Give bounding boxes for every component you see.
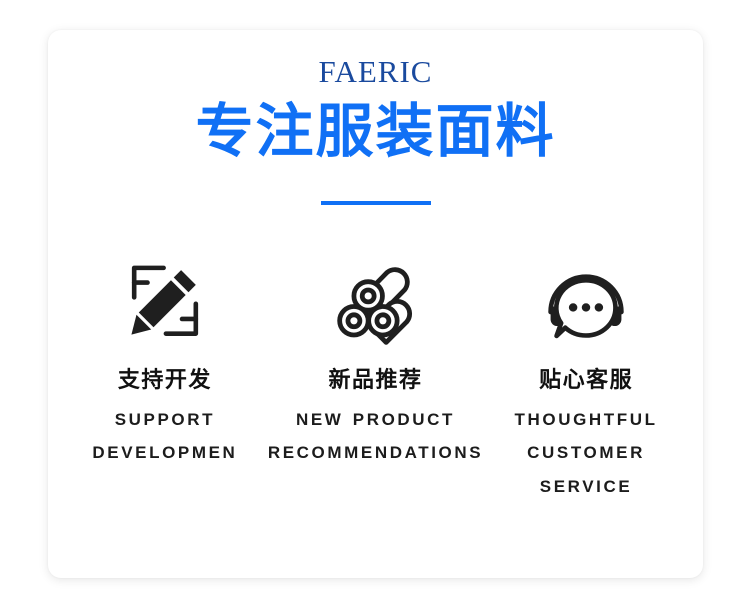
feature-title-cn: 支持开发 (74, 367, 256, 395)
promo-banner-card: FAERIC 专注服装面料 (48, 30, 703, 578)
feature-title-en: THOUGHTFUL CUSTOMER SERVICE (495, 403, 677, 502)
feature-title-en: NEW PRODUCT RECOMMENDATIONS (268, 403, 483, 469)
page-root: { "brand": { "wordmark": "FAERIC", "word… (0, 0, 750, 615)
banner-header: FAERIC 专注服装面料 (48, 30, 703, 205)
pencil-ruler-icon (74, 249, 256, 353)
brand-wordmark: FAERIC (48, 56, 703, 87)
feature-title-cn: 新品推荐 (268, 367, 483, 395)
feature-item-new-products: 新品推荐 NEW PRODUCT RECOMMENDATIONS (262, 249, 489, 503)
feature-title-cn: 贴心客服 (495, 367, 677, 395)
headset-chat-icon (495, 249, 677, 353)
feature-item-support-development: 支持开发 SUPPORT DEVELOPMEN (68, 249, 262, 503)
fabric-rolls-icon (268, 249, 483, 353)
features-row: 支持开发 SUPPORT DEVELOPMEN (48, 249, 703, 503)
feature-title-en: SUPPORT DEVELOPMEN (74, 403, 256, 469)
title-divider (321, 201, 431, 205)
page-title: 专注服装面料 (48, 101, 703, 162)
feature-item-customer-service: 贴心客服 THOUGHTFUL CUSTOMER SERVICE (489, 249, 683, 503)
